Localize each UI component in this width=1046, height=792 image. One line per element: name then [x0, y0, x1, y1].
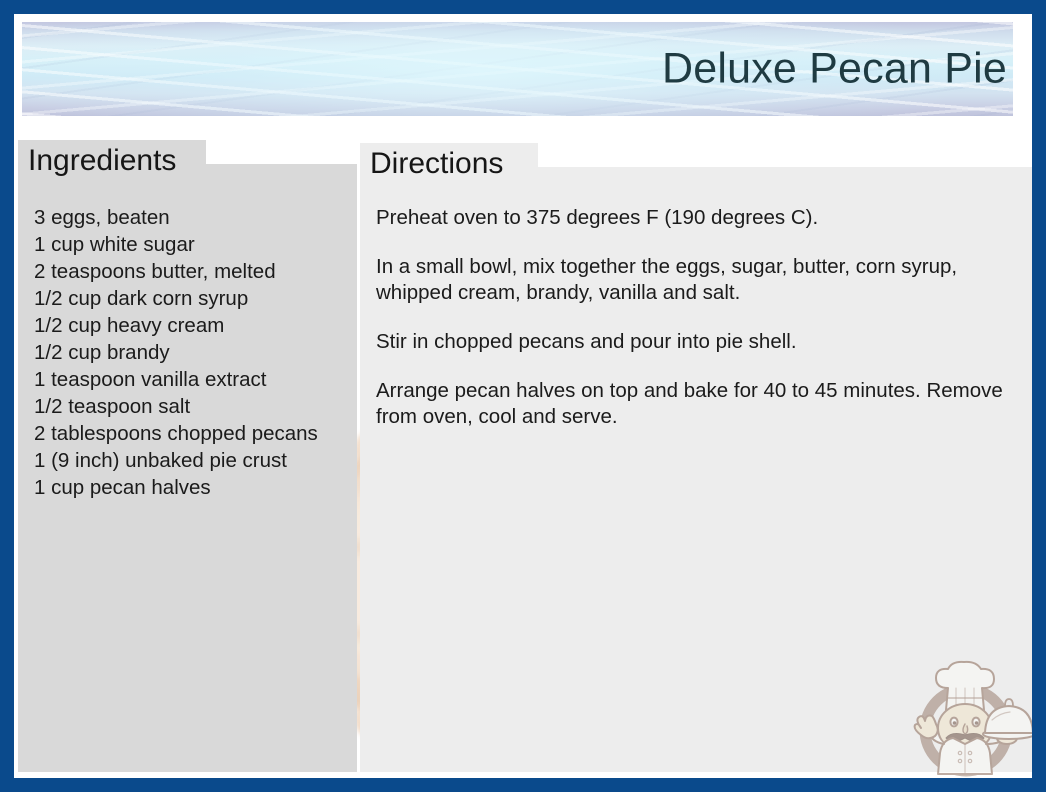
ingredients-list: 3 eggs, beaten1 cup white sugar2 teaspoo…: [34, 204, 364, 501]
title-banner: Deluxe Pecan Pie: [22, 22, 1013, 116]
ingredient-item: 1 (9 inch) unbaked pie crust: [34, 447, 364, 474]
ingredients-heading: Ingredients: [18, 140, 206, 182]
recipe-slide: Deluxe Pecan Pie: [0, 0, 1046, 792]
slide-page: Deluxe Pecan Pie: [14, 14, 1032, 778]
ingredient-item: 2 teaspoons butter, melted: [34, 258, 364, 285]
ingredient-item: 1/2 cup heavy cream: [34, 312, 364, 339]
ingredient-item: 1 cup pecan halves: [34, 474, 364, 501]
page-title: Deluxe Pecan Pie: [662, 48, 1007, 91]
ingredient-item: 1/2 teaspoon salt: [34, 393, 364, 420]
directions-heading-label: Directions: [370, 147, 503, 181]
chef-mascot-logo: [908, 658, 1032, 778]
direction-step: Stir in chopped pecans and pour into pie…: [376, 329, 1016, 355]
ingredient-item: 1/2 cup brandy: [34, 339, 364, 366]
direction-step: Arrange pecan halves on top and bake for…: [376, 378, 1016, 430]
ingredient-item: 3 eggs, beaten: [34, 204, 364, 231]
ingredient-item: 1 teaspoon vanilla extract: [34, 366, 364, 393]
ingredient-item: 1/2 cup dark corn syrup: [34, 285, 364, 312]
direction-step: In a small bowl, mix together the eggs, …: [376, 254, 1016, 306]
ingredient-item: 1 cup white sugar: [34, 231, 364, 258]
ingredients-heading-label: Ingredients: [28, 144, 176, 178]
ingredient-item: 2 tablespoons chopped pecans: [34, 420, 364, 447]
directions-heading: Directions: [360, 143, 538, 185]
direction-step: Preheat oven to 375 degrees F (190 degre…: [376, 205, 1016, 231]
directions-body: Preheat oven to 375 degrees F (190 degre…: [376, 205, 1016, 430]
